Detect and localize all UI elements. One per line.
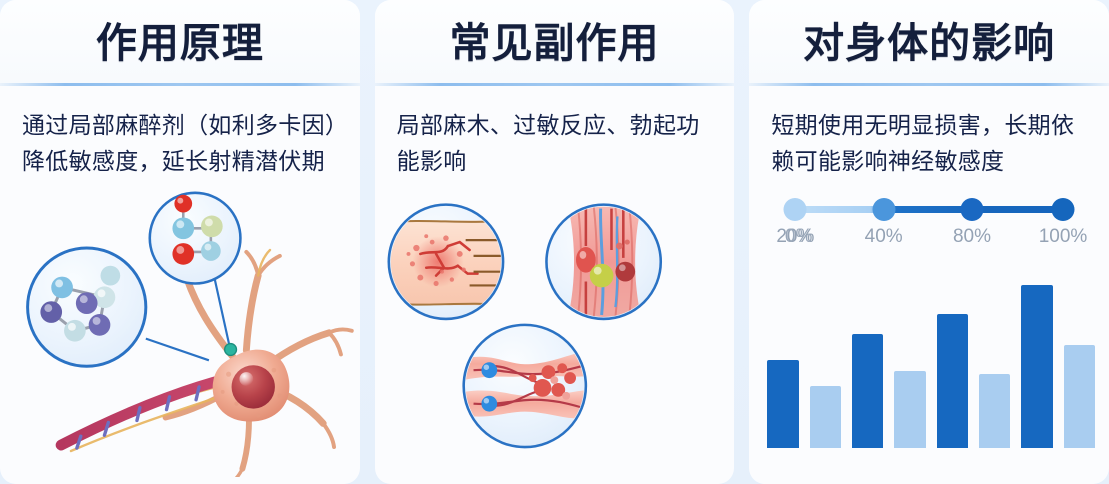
slider-tick-overlap: 0% xyxy=(785,226,812,248)
panel-body-impact: 对身体的影响 短期使用无明显损害，长期依赖可能影响神经敏感度 20%0%40%8… xyxy=(749,0,1109,484)
bar-4 xyxy=(894,371,925,448)
slider-tick-20: 20%0% xyxy=(776,226,814,248)
panel-description: 局部麻木、过敏反应、勃起功能影响 xyxy=(397,108,713,179)
panel-mechanism: 作用原理 通过局部麻醉剂（如利多卡因）降低敏感度，延长射精潜伏期 xyxy=(0,0,360,484)
page-title: 作用原理 xyxy=(96,23,264,64)
three-panel-infographic: 作用原理 通过局部麻醉剂（如利多卡因）降低敏感度，延长射精潜伏期 xyxy=(0,0,1109,484)
panel-header: 对身体的影响 xyxy=(749,0,1109,86)
neuron-illustration xyxy=(0,181,360,477)
circle-receptors xyxy=(546,205,660,319)
panel-body: 通过局部麻醉剂（如利多卡因）降低敏感度，延长射精潜伏期 xyxy=(0,86,360,484)
circle-vessel xyxy=(463,325,589,447)
bar-2 xyxy=(810,386,841,448)
circle-rash xyxy=(388,205,508,319)
slider-track[interactable] xyxy=(795,206,1063,213)
panel-body: 局部麻木、过敏反应、勃起功能影响 xyxy=(375,86,735,484)
bar-8 xyxy=(1064,345,1095,448)
bar-5 xyxy=(937,314,968,448)
page-title: 对身体的影响 xyxy=(803,23,1055,64)
dependency-progression-slider[interactable]: 20%0%40%80%100% xyxy=(767,194,1091,256)
bar-6 xyxy=(979,374,1010,448)
panel-header: 作用原理 xyxy=(0,0,360,86)
slider-tick-100: 100% xyxy=(1039,226,1088,248)
panel-header: 常见副作用 xyxy=(375,0,735,86)
panel-description: 短期使用无明显损害，长期依赖可能影响神经敏感度 xyxy=(771,108,1087,179)
bar-7 xyxy=(1021,285,1052,448)
slider-dot-80[interactable] xyxy=(961,198,984,221)
panel-body: 短期使用无明显损害，长期依赖可能影响神经敏感度 20%0%40%80%100% xyxy=(749,86,1109,484)
bar-1 xyxy=(767,360,798,448)
slider-dot-20[interactable] xyxy=(784,198,807,221)
panel-side-effects: 常见副作用 局部麻木、过敏反应、勃起功能影响 xyxy=(375,0,735,484)
slider-dot-100[interactable] xyxy=(1052,198,1075,221)
side-effect-illustrations xyxy=(375,181,735,477)
panel-description: 通过局部麻醉剂（如利多卡因）降低敏感度，延长射精潜伏期 xyxy=(22,108,338,179)
bar-3 xyxy=(852,334,883,448)
slider-dot-40[interactable] xyxy=(872,198,895,221)
slider-tick-40: 40% xyxy=(865,226,903,248)
slider-tick-80: 80% xyxy=(953,226,991,248)
page-title: 常见副作用 xyxy=(450,23,660,64)
impact-bar-chart xyxy=(767,276,1095,448)
bar-series xyxy=(767,276,1095,448)
